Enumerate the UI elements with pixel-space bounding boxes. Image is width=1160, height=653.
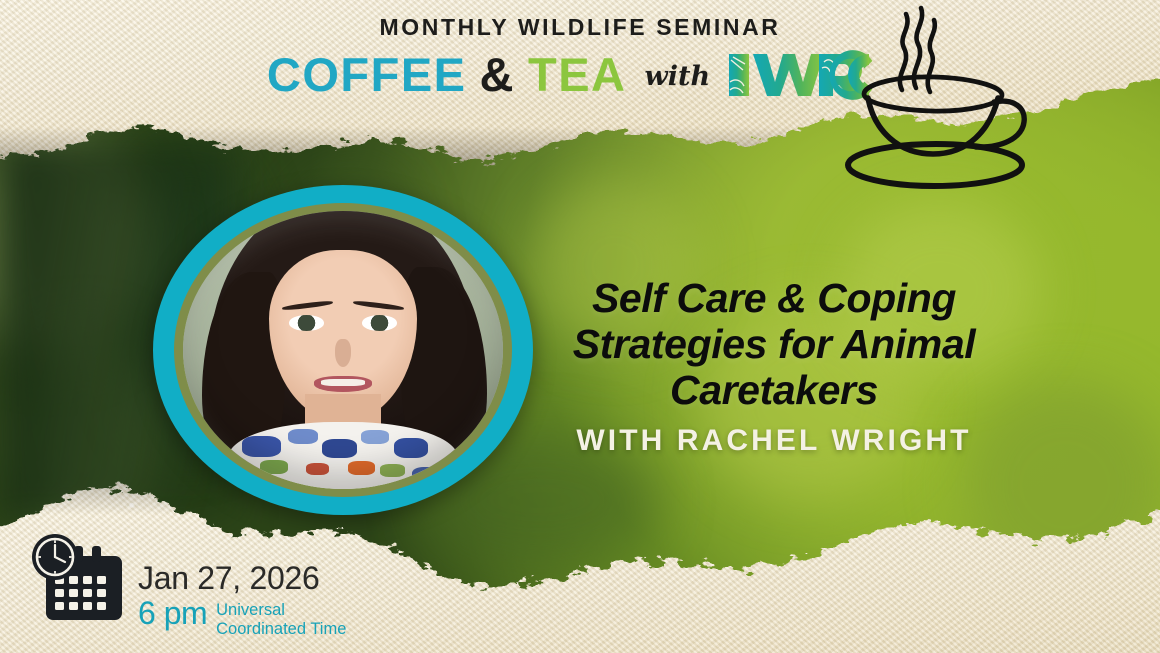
coffee-cup-icon bbox=[836, 2, 1036, 194]
page-title: Self Care & Coping Strategies for Animal… bbox=[534, 276, 1014, 414]
brand-word-with: with bbox=[644, 63, 710, 90]
brand-ampersand: & bbox=[480, 51, 515, 98]
speaker-name: WITH RACHEL WRIGHT bbox=[534, 424, 1014, 458]
calendar-clock-icon bbox=[24, 532, 128, 632]
event-timezone: Universal Coordinated Time bbox=[216, 601, 346, 639]
event-date: Jan 27, 2026 bbox=[138, 560, 346, 597]
brand-word-coffee: COFFEE bbox=[267, 51, 467, 98]
event-time: 6 pm bbox=[138, 595, 207, 632]
speaker-photo bbox=[183, 211, 503, 489]
schedule-block: Jan 27, 2026 6 pm Universal Coordinated … bbox=[24, 532, 346, 639]
seminar-poster: Self Care & Coping Strategies for Animal… bbox=[0, 0, 1160, 653]
brand-word-tea: TEA bbox=[528, 51, 627, 98]
timezone-line-1: Universal bbox=[216, 601, 285, 619]
timezone-line-2: Coordinated Time bbox=[216, 620, 346, 638]
headline-line-3: Caretakers bbox=[534, 368, 1014, 414]
headline-line-2: Strategies for Animal bbox=[534, 322, 1014, 368]
headline-line-1: Self Care & Coping bbox=[534, 276, 1014, 322]
